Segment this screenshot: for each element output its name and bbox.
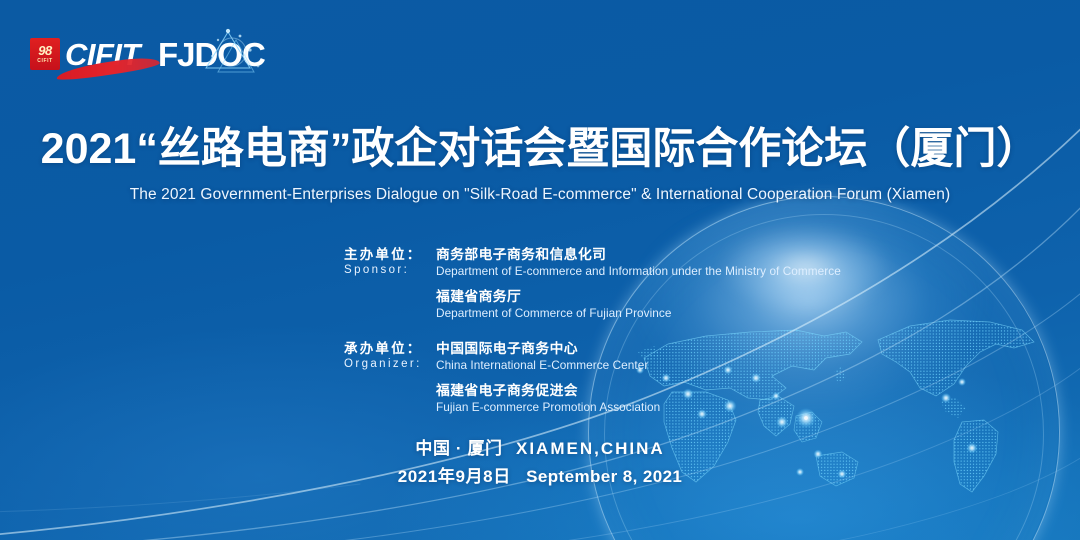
- credit-entry: 中国国际电子商务中心 China International E-Commerc…: [436, 340, 944, 373]
- credit-label-cn: 主办单位：: [344, 247, 436, 263]
- date-line: 2021年9月8日 September 8, 2021: [0, 464, 1080, 490]
- cifit-mark-number: 98: [38, 44, 51, 57]
- cifit-logo: 98 CIFIT CIFIT: [30, 38, 140, 70]
- page-title-cn: 2021“丝路电商”政企对话会暨国际合作论坛（厦门）: [0, 128, 1080, 171]
- credits-block: 主办单位： Sponsor: 商务部电子商务和信息化司 Department o…: [344, 246, 944, 416]
- credit-group-organizer: 承办单位： Organizer: 中国国际电子商务中心 China Intern…: [344, 340, 944, 416]
- credit-entry-cn: 中国国际电子商务中心: [436, 340, 944, 358]
- cifit-mark-icon: 98 CIFIT: [30, 38, 60, 70]
- date-en: September 8, 2021: [526, 467, 682, 486]
- fjdoc-logo: FJDOC: [158, 38, 265, 71]
- credit-entry: 商务部电子商务和信息化司 Department of E-commerce an…: [436, 246, 944, 279]
- date-cn: 2021年9月8日: [398, 467, 511, 486]
- credit-label-cn: 承办单位：: [344, 341, 436, 357]
- credit-entries: 商务部电子商务和信息化司 Department of E-commerce an…: [436, 246, 944, 322]
- credit-label-en: Organizer:: [344, 357, 436, 372]
- place-en: XIAMEN,CHINA: [516, 439, 665, 458]
- credit-entry-en: Department of Commerce of Fujian Provinc…: [436, 306, 944, 322]
- credit-entry: 福建省电子商务促进会 Fujian E-commerce Promotion A…: [436, 382, 944, 415]
- place-cn: 中国 · 厦门: [415, 439, 502, 458]
- cifit-mark-sub: CIFIT: [37, 59, 53, 64]
- credit-group-sponsor: 主办单位： Sponsor: 商务部电子商务和信息化司 Department o…: [344, 246, 944, 322]
- footer-block: 中国 · 厦门 XIAMEN,CHINA 2021年9月8日 September…: [0, 436, 1080, 489]
- credit-label: 主办单位： Sponsor:: [344, 246, 436, 322]
- credit-entry-cn: 福建省电子商务促进会: [436, 382, 944, 400]
- credit-entry-cn: 福建省商务厅: [436, 288, 944, 306]
- credit-entry-en: China International E-Commerce Center: [436, 358, 944, 374]
- place-line: 中国 · 厦门 XIAMEN,CHINA: [0, 436, 1080, 462]
- fjdoc-wordmark: FJDOC: [158, 38, 265, 71]
- credit-label: 承办单位： Organizer:: [344, 340, 436, 416]
- page-title-en: The 2021 Government-Enterprises Dialogue…: [0, 186, 1080, 204]
- credit-entries: 中国国际电子商务中心 China International E-Commerc…: [436, 340, 944, 416]
- credit-entry-en: Department of E-commerce and Information…: [436, 264, 944, 280]
- credit-label-en: Sponsor:: [344, 263, 436, 278]
- credit-entry-cn: 商务部电子商务和信息化司: [436, 246, 944, 264]
- conference-poster: 98 CIFIT CIFIT: [0, 0, 1080, 540]
- logo-row: 98 CIFIT CIFIT: [30, 30, 265, 78]
- credit-entry-en: Fujian E-commerce Promotion Association: [436, 400, 944, 416]
- credit-entry: 福建省商务厅 Department of Commerce of Fujian …: [436, 288, 944, 321]
